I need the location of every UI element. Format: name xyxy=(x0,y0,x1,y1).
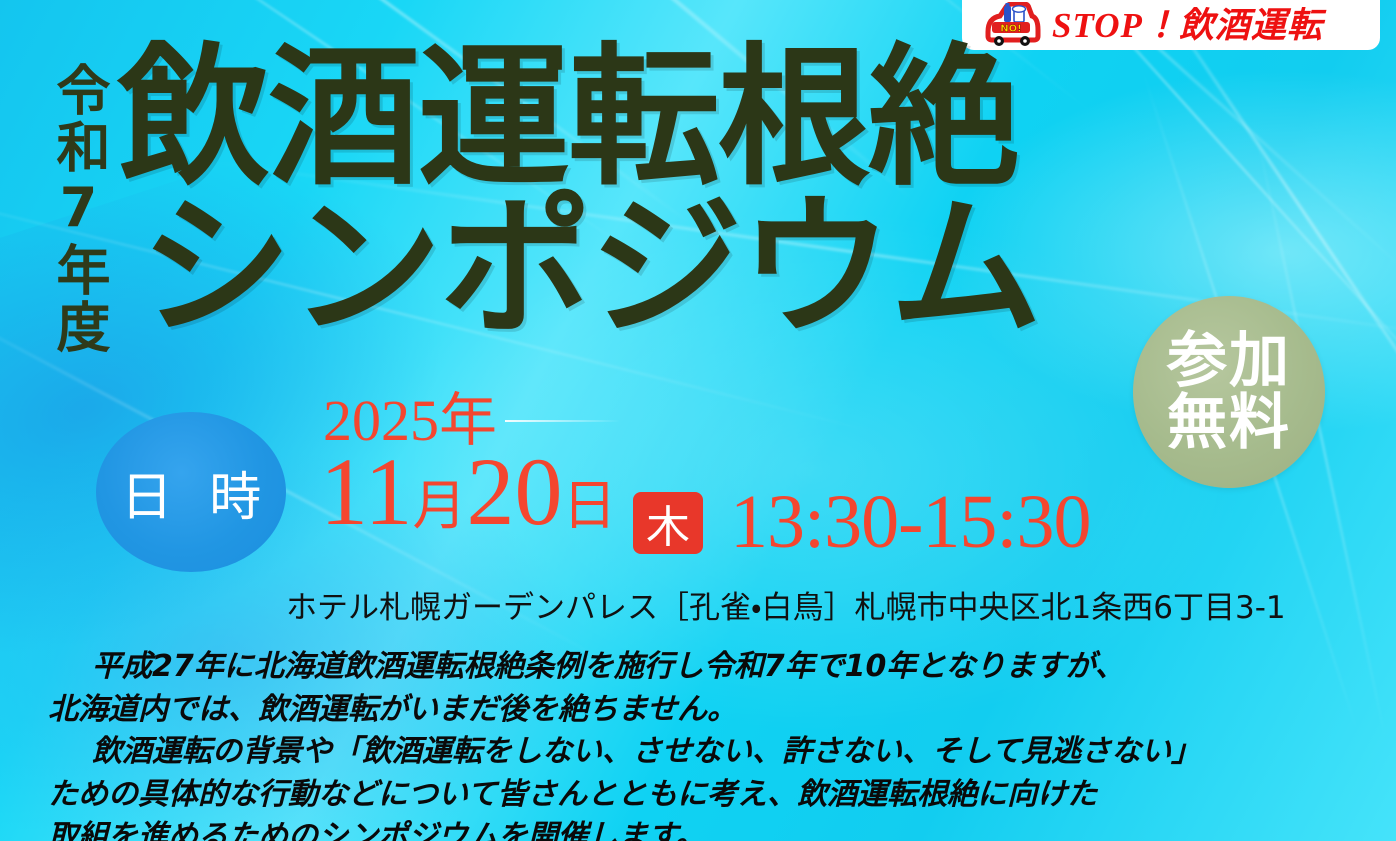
free-admission-badge: 参加 無料 xyxy=(1133,296,1325,488)
datetime-label-circle: 日 時 xyxy=(96,412,286,572)
free-badge-line-1: 参加 xyxy=(1167,330,1291,392)
stop-drunk-driving-banner: NO! STOP！飲酒運転 xyxy=(962,0,1380,50)
event-weekday-badge: 木 xyxy=(633,492,703,554)
stop-banner-text: STOP！飲酒運転 xyxy=(1052,8,1323,43)
description-line-3: 飲酒運転の背景や「飲酒運転をしない、させない、許さない、そして見逃さない」 xyxy=(48,731,1368,774)
event-month-unit: 月 xyxy=(412,476,466,536)
title-line-2: シンポジウム xyxy=(140,196,1040,340)
description-line-2: 北海道内では、飲酒運転がいまだ後を絶ちません。 xyxy=(48,689,1368,732)
event-description: 平成27年に北海道飲酒運転根絶条例を施行し令和7年で10年となりますが、 北海道… xyxy=(48,646,1368,841)
description-line-4: ための具体的な行動などについて皆さんとともに考え、飲酒運転根絶に向けた xyxy=(48,774,1368,817)
description-line-1: 平成27年に北海道飲酒運転根絶条例を施行し令和7年で10年となりますが、 xyxy=(48,646,1368,689)
event-time: 13:30-15:30 xyxy=(730,484,1091,560)
event-month-day: 11月20日 xyxy=(320,444,616,540)
poster-canvas: NO! STOP！飲酒運転 令和7年度 飲酒運転根絶 シンポジウム 参加 無料 … xyxy=(0,0,1396,841)
event-month: 11 xyxy=(320,438,412,545)
page-title: 飲酒運転根絶 シンポジウム xyxy=(118,46,1040,341)
datetime-label: 日 時 xyxy=(111,455,272,530)
year-underline-accent xyxy=(505,420,620,422)
era-label: 令和7年度 xyxy=(44,62,106,356)
event-day: 20 xyxy=(466,438,562,545)
free-badge-line-2: 無料 xyxy=(1167,392,1291,454)
description-line-5: 取組を進めるためのシンポジウムを開催します。 xyxy=(48,816,1368,841)
event-venue: ホテル札幌ガーデンパレス［孔雀・白鳥］札幌市中央区北1条西6丁目3-1 xyxy=(286,582,1286,627)
event-day-unit: 日 xyxy=(562,476,616,536)
